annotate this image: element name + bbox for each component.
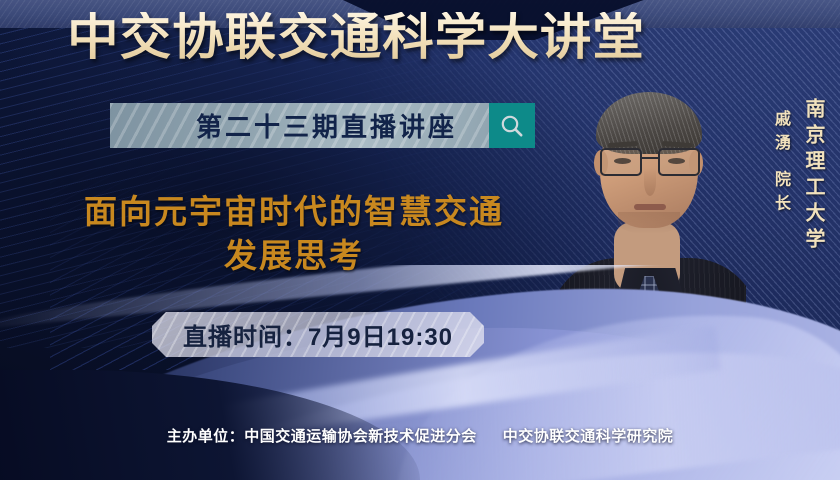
lecture-title: 面向元宇宙时代的智慧交通 发展思考 bbox=[44, 190, 544, 278]
lecture-title-line-1: 面向元宇宙时代的智慧交通 bbox=[84, 192, 504, 231]
search-icon bbox=[499, 113, 525, 139]
page-title: 中交协联交通科学大讲堂 bbox=[0, 12, 723, 62]
episode-banner[interactable]: 第二十三期直播讲座 bbox=[110, 103, 535, 148]
eyeglasses-icon bbox=[600, 148, 700, 178]
organizer-primary: 主办单位：中国交通运输协会新技术促进分会 bbox=[167, 428, 477, 445]
silk-ribbon-decoration bbox=[0, 265, 840, 480]
portrait-mouth bbox=[634, 204, 666, 210]
broadcast-time-badge: 直播时间：7月9日19:30 bbox=[152, 312, 484, 357]
broadcast-time-text: 直播时间：7月9日19:30 bbox=[183, 317, 453, 352]
organizer-secondary: 中交协联交通科学研究院 bbox=[503, 428, 674, 445]
organizer-footer: 主办单位：中国交通运输协会新技术促进分会中交协联交通科学研究院 bbox=[0, 425, 840, 446]
live-lecture-poster: 中交协联交通科学大讲堂 第二十三期直播讲座 面向元宇宙时代的智慧交通 发展思考 … bbox=[0, 0, 840, 480]
speaker-name-role: 戚湧 院长 bbox=[768, 110, 792, 218]
glasses-lens-left bbox=[600, 148, 642, 176]
lecture-title-line-2: 发展思考 bbox=[44, 234, 544, 278]
glasses-lens-right bbox=[658, 148, 700, 176]
search-button[interactable] bbox=[489, 103, 535, 148]
speaker-affiliation: 南京理工大学 bbox=[799, 98, 828, 254]
portrait-chin-shadow bbox=[618, 212, 680, 234]
glasses-bridge bbox=[642, 157, 658, 159]
episode-label: 第二十三期直播讲座 bbox=[142, 107, 457, 144]
episode-banner-bar: 第二十三期直播讲座 bbox=[110, 103, 489, 148]
